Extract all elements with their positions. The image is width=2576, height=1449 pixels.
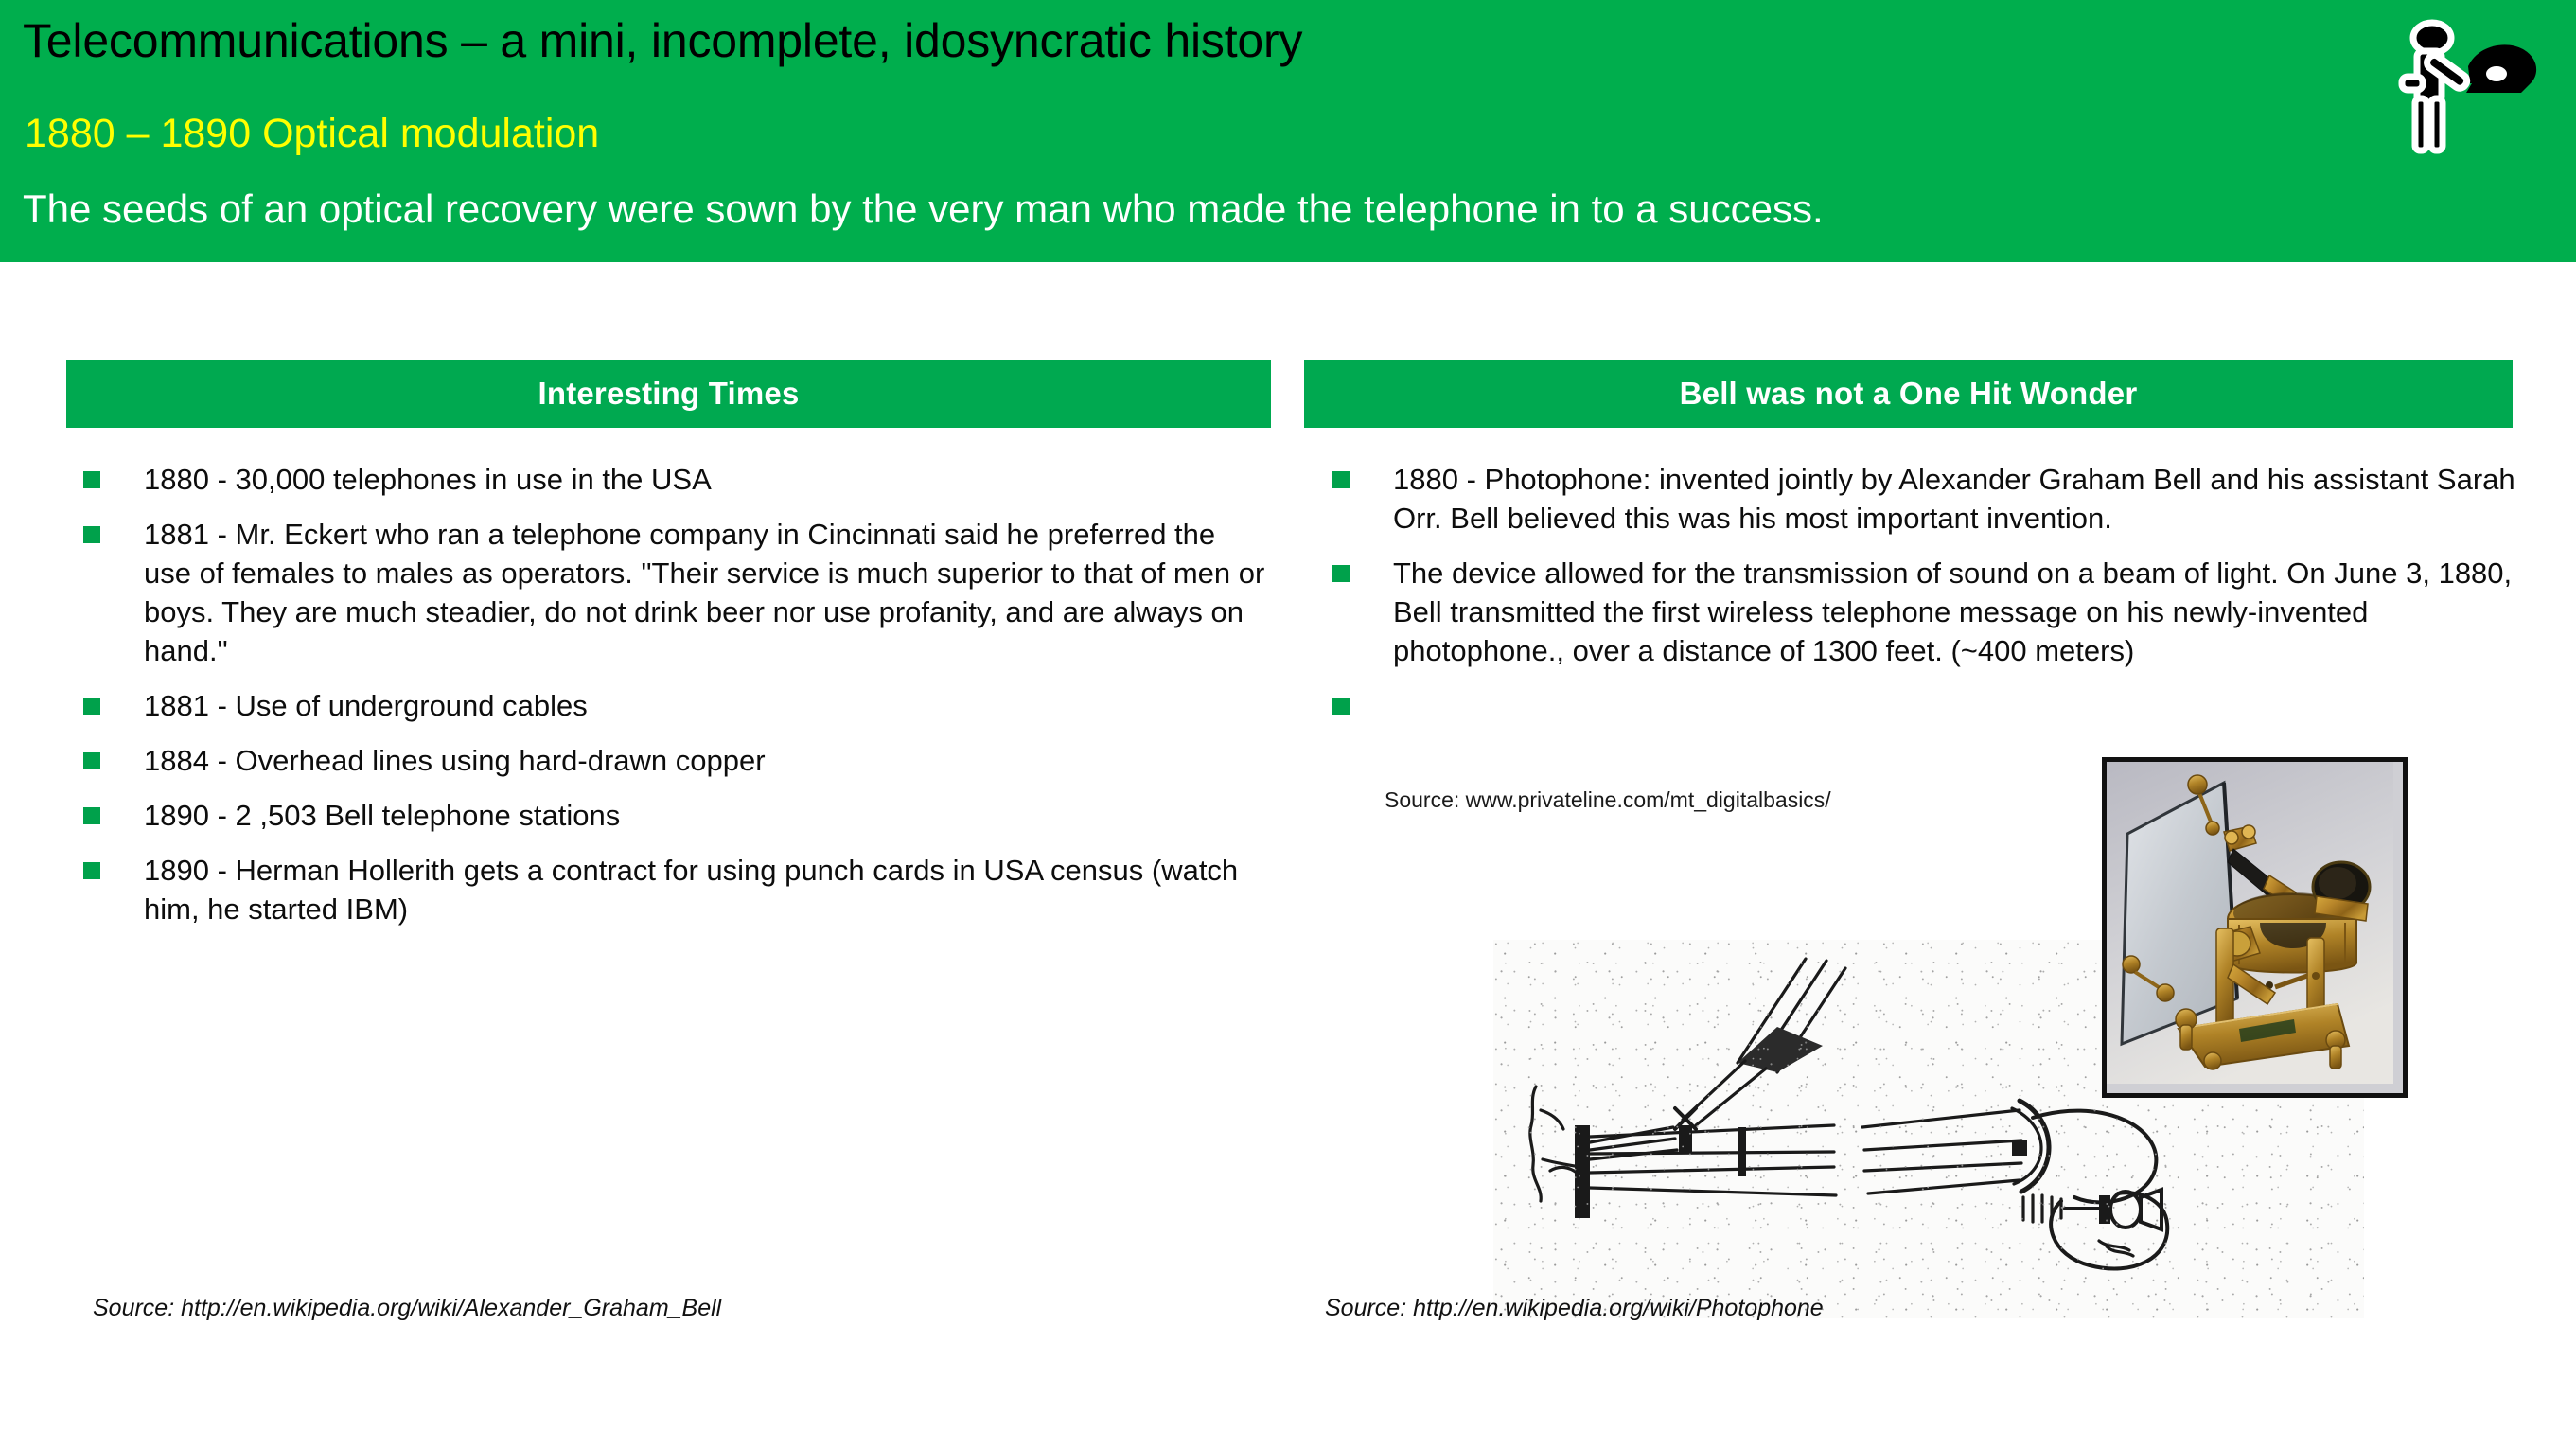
list-item-text: The device allowed for the transmission … (1393, 554, 2525, 670)
panel-left-header: Interesting Times (66, 360, 1271, 428)
bullet-list-right: 1880 - Photophone: invented jointly by A… (1304, 460, 2525, 731)
list-item: 1890 - 2 ,503 Bell telephone stations (66, 796, 1287, 835)
brass-photophone-receiver-photo (2102, 757, 2408, 1098)
page-subtitle: 1880 – 1890 Optical modulation (25, 109, 599, 158)
list-item: 1880 - 30,000 telephones in use in the U… (66, 460, 1287, 499)
list-item: 1880 - Photophone: invented jointly by A… (1304, 460, 2525, 538)
square-bullet-icon (1332, 471, 1350, 488)
square-bullet-icon (83, 862, 100, 879)
source-note-right: Source: http://en.wikipedia.org/wiki/Pho… (1325, 1295, 1824, 1322)
brass-photophone-illustration (2107, 762, 2393, 1084)
list-item-text: 1880 - 30,000 telephones in use in the U… (144, 460, 712, 499)
panel-right-header: Bell was not a One Hit Wonder (1304, 360, 2513, 428)
square-bullet-icon (83, 752, 100, 769)
panel-interesting-times: Interesting Times (66, 360, 1271, 428)
person-with-telephone-logo (2379, 8, 2559, 159)
list-item-text: 1890 - Herman Hollerith gets a contract … (144, 851, 1265, 928)
square-bullet-icon (83, 807, 100, 824)
square-bullet-icon (83, 471, 100, 488)
list-item (1304, 686, 2525, 715)
source-note-inline: Source: www.privateline.com/mt_digitalba… (1385, 787, 1831, 813)
list-item-text: 1890 - 2 ,503 Bell telephone stations (144, 796, 620, 835)
panel-bell-one-hit-wonder: Bell was not a One Hit Wonder (1304, 360, 2513, 428)
list-item: 1881 - Mr. Eckert who ran a telephone co… (66, 515, 1287, 670)
person-icon (2402, 23, 2469, 150)
panel-left-heading-text: Interesting Times (538, 376, 799, 412)
header-banner: Telecommunications – a mini, incomplete,… (0, 0, 2576, 262)
square-bullet-icon (1332, 698, 1350, 715)
list-item-text: 1884 - Overhead lines using hard-drawn c… (144, 741, 766, 780)
square-bullet-icon (1332, 565, 1350, 582)
list-item: 1884 - Overhead lines using hard-drawn c… (66, 741, 1287, 780)
list-item-text: 1881 - Use of underground cables (144, 686, 588, 725)
list-item: The device allowed for the transmission … (1304, 554, 2525, 670)
list-item: 1881 - Use of underground cables (66, 686, 1287, 725)
square-bullet-icon (83, 526, 100, 543)
page-title: Telecommunications – a mini, incomplete,… (23, 13, 2294, 68)
bullet-list-left: 1880 - 30,000 telephones in use in the U… (66, 460, 1287, 945)
square-bullet-icon (83, 698, 100, 715)
page-lead-text: The seeds of an optical recovery were so… (23, 186, 1824, 233)
list-item-text: 1880 - Photophone: invented jointly by A… (1393, 460, 2525, 538)
list-item: 1890 - Herman Hollerith gets a contract … (66, 851, 1287, 928)
source-note-left: Source: http://en.wikipedia.org/wiki/Ale… (93, 1295, 721, 1322)
panel-right-heading-text: Bell was not a One Hit Wonder (1680, 376, 2138, 412)
list-item-text: 1881 - Mr. Eckert who ran a telephone co… (144, 515, 1265, 670)
telephone-icon (2466, 44, 2536, 93)
